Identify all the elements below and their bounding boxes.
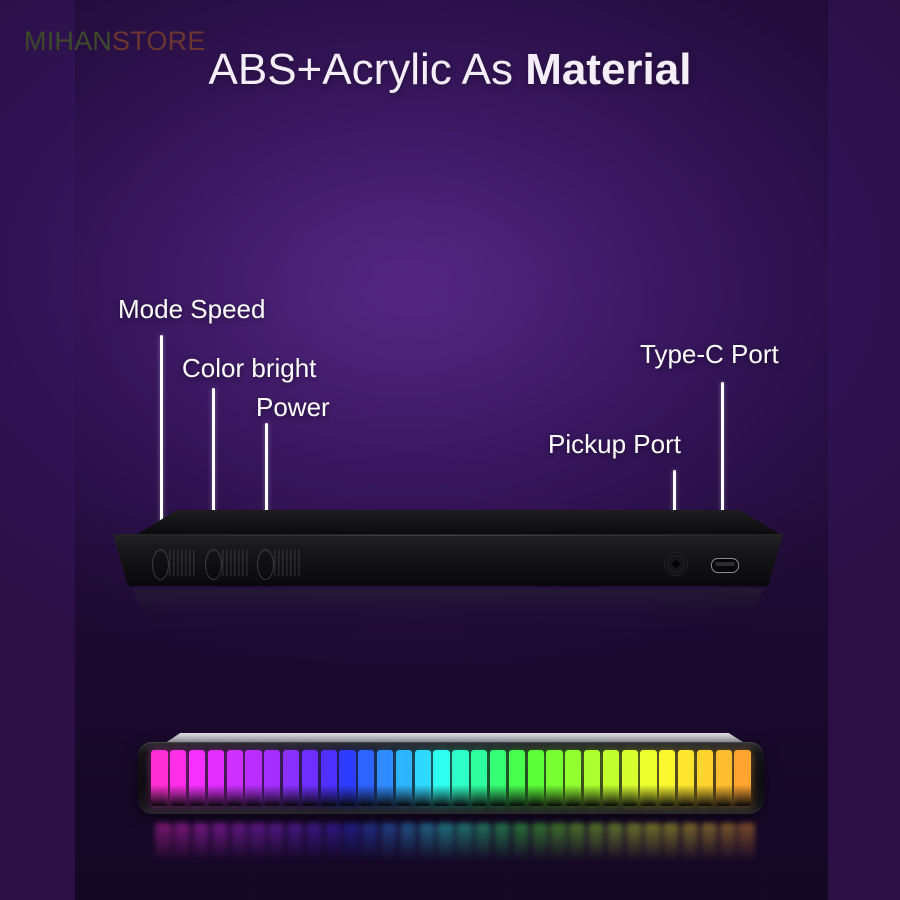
mode-speed-button[interactable] [152,549,169,580]
led-segment-reflection [701,823,717,865]
led-segment-reflection [193,823,209,865]
led-segment [170,750,186,806]
led-segment-reflection [475,823,491,865]
led-segment-reflection [343,823,359,865]
led-segment-reflection [644,823,660,865]
led-segment [339,750,355,806]
led-segment [603,750,619,806]
led-segment [433,750,449,806]
led-segment [358,750,374,806]
led-segment-reflection [400,823,416,865]
led-segment [640,750,656,806]
color-bright-button[interactable] [205,549,222,580]
led-segment [584,750,600,806]
led-segment-reflection [588,823,604,865]
led-segment [189,750,205,806]
title-light-part: ABS+Acrylic As [209,45,526,94]
led-segment-reflection [626,823,642,865]
led-segment-reflection [381,823,397,865]
control-bar-reflection [122,588,774,632]
led-segment-reflection [682,823,698,865]
led-segment-reflection [268,823,284,865]
led-segment [509,750,525,806]
title-bold-part: Material [525,45,691,94]
led-segment [565,750,581,806]
led-segment [377,750,393,806]
led-segment [471,750,487,806]
led-segment [208,750,224,806]
led-segment [245,750,261,806]
led-segment-reflection [607,823,623,865]
led-segment-reflection [738,823,754,865]
led-segment-reflection [532,823,548,865]
led-segment-reflection [212,823,228,865]
led-segment [659,750,675,806]
led-segment [697,750,713,806]
pickup-microphone-port[interactable] [664,552,688,576]
led-segment [264,750,280,806]
color-bright-button-legend [222,550,248,576]
led-segment [716,750,732,806]
led-segment-reflection [663,823,679,865]
callout-label-mode-speed: Mode Speed [118,294,265,325]
led-segment [321,750,337,806]
callout-label-pickup-port: Pickup Port [548,429,681,460]
led-segment-reflection [306,823,322,865]
led-segment-reflection [456,823,472,865]
led-segment [452,750,468,806]
led-segment-reflection [569,823,585,865]
control-bar-top-surface [113,510,783,536]
power-button-legend [274,550,300,576]
led-segment-reflection [437,823,453,865]
led-segment [302,750,318,806]
led-segment [490,750,506,806]
usb-type-c-port[interactable] [711,558,739,573]
callout-label-color-bright: Color bright [182,353,316,384]
led-segment-reflection [155,823,171,865]
product-infographic: MIHANSTORE ABS+Acrylic As Material Mode … [0,0,900,900]
callout-label-power: Power [256,392,330,423]
led-segment-reflection [325,823,341,865]
rgb-led-light-bar[interactable] [138,733,764,817]
led-bar-housing [138,742,764,814]
led-segment [415,750,431,806]
led-segment-reflection [494,823,510,865]
led-segment-reflection [550,823,566,865]
mode-speed-button-legend [169,550,195,576]
led-strip [147,750,755,806]
led-segment-reflection [287,823,303,865]
led-bar-reflection [150,823,760,865]
led-segment [528,750,544,806]
led-segment-reflection [249,823,265,865]
led-segment [283,750,299,806]
led-segment-reflection [720,823,736,865]
led-segment [227,750,243,806]
black-control-bar[interactable] [113,510,783,586]
led-segment-reflection [513,823,529,865]
led-segment [396,750,412,806]
led-segment-reflection [362,823,378,865]
led-segment-reflection [419,823,435,865]
led-segment [151,750,167,806]
led-segment [546,750,562,806]
led-segment [678,750,694,806]
power-button[interactable] [257,549,274,580]
page-title: ABS+Acrylic As Material [0,47,900,93]
callout-label-type-c-port: Type-C Port [640,339,779,370]
led-segment-reflection [231,823,247,865]
led-segment [622,750,638,806]
led-segment-reflection [174,823,190,865]
led-segment [734,750,750,806]
